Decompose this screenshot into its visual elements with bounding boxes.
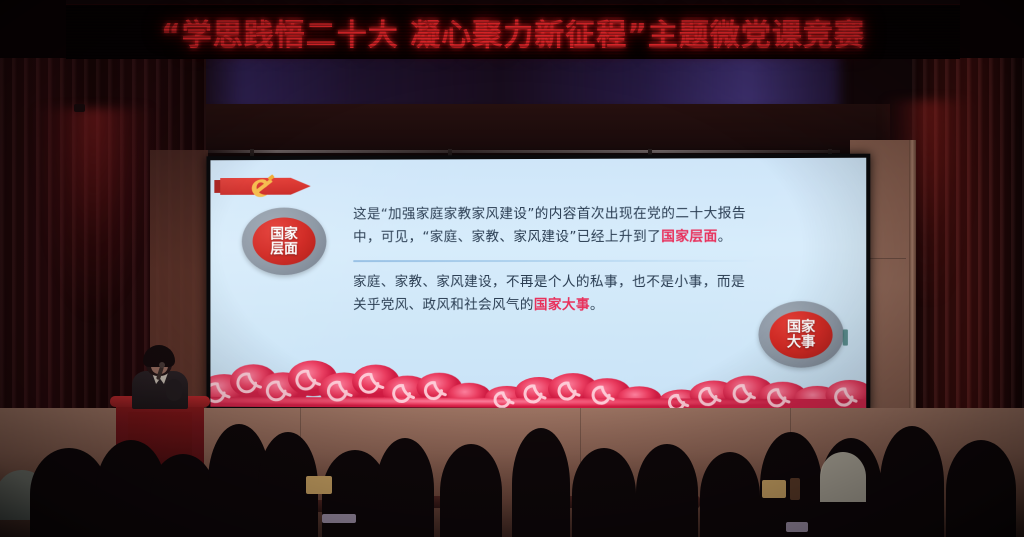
tissue-box <box>762 480 786 498</box>
ccp-hammer-sickle-emblem <box>246 172 283 204</box>
audience-member <box>512 428 570 537</box>
audience-member-light-hair <box>820 452 866 502</box>
drink-cup <box>790 478 800 500</box>
audience-member <box>700 452 760 537</box>
badge-national-level: 国家 层面 <box>242 207 327 275</box>
slide-paragraph-2: 家庭、家教、家风建设，不再是个人的私事，也不是小事，而是关乎党风、政风和社会风气… <box>353 271 754 318</box>
phone-screen <box>322 514 356 523</box>
phone-screen <box>786 522 808 532</box>
spotlight-glow-left <box>34 108 154 318</box>
paragraph-divider <box>353 260 754 262</box>
speaker-arm <box>166 379 182 401</box>
audience-member <box>946 440 1016 537</box>
slide-text-run-1-3: 。 <box>718 229 732 245</box>
audience-member <box>440 444 502 537</box>
slide-text-run-2-3: 。 <box>590 297 604 313</box>
rail-clip <box>250 149 254 156</box>
auspicious-cloud-border <box>210 345 866 409</box>
audience-member <box>150 454 216 537</box>
led-banner: “学思践悟二十大 凝心聚力新征程”主题微党课竞赛 <box>66 4 960 59</box>
auditorium-scene: “学思践悟二十大 凝心聚力新征程”主题微党课竞赛 国家 层面 国家 <box>0 0 1024 537</box>
badge-right-line1: 国家 <box>787 319 815 334</box>
audience-member <box>636 444 698 537</box>
slide-text-body: 这是“加强家庭家教家风建设”的内容首次出现在党的二十大报告中，可见，“家庭、家教… <box>353 202 754 317</box>
tissue-box <box>306 476 332 494</box>
slide-paragraph-1: 这是“加强家庭家教家风建设”的内容首次出现在党的二十大报告中，可见，“家庭、家教… <box>353 202 754 249</box>
ceiling-light-glow <box>190 52 840 112</box>
audience-member <box>572 448 636 537</box>
slide-text-run-2-2: 国家大事 <box>534 297 590 313</box>
badge-left-line1: 国家 <box>270 226 298 241</box>
audience-member <box>880 426 944 537</box>
led-banner-text: “学思践悟二十大 凝心聚力新征程”主题微党课竞赛 <box>161 10 865 54</box>
slide-text-run-1-2: 国家层面 <box>661 229 718 245</box>
badge-left-line2: 层面 <box>270 241 298 256</box>
ceiling-panel <box>150 104 890 156</box>
ceiling-light-rail <box>200 150 840 153</box>
spotlight-fixture <box>74 104 85 112</box>
projection-screen-frame: 国家 层面 国家 大事 这是“加强家庭家教家风建设”的内容首次出现在党的二十大报… <box>207 154 871 414</box>
screen-ui-marker <box>843 329 848 345</box>
microphone-capsule <box>159 362 165 368</box>
banner-frame-left <box>0 0 66 58</box>
banner-frame-right <box>960 0 1024 58</box>
audience-member <box>376 438 434 537</box>
projection-screen: 国家 层面 国家 大事 这是“加强家庭家教家风建设”的内容首次出现在党的二十大报… <box>210 158 866 410</box>
badge-national-level-inner: 国家 层面 <box>253 217 316 265</box>
